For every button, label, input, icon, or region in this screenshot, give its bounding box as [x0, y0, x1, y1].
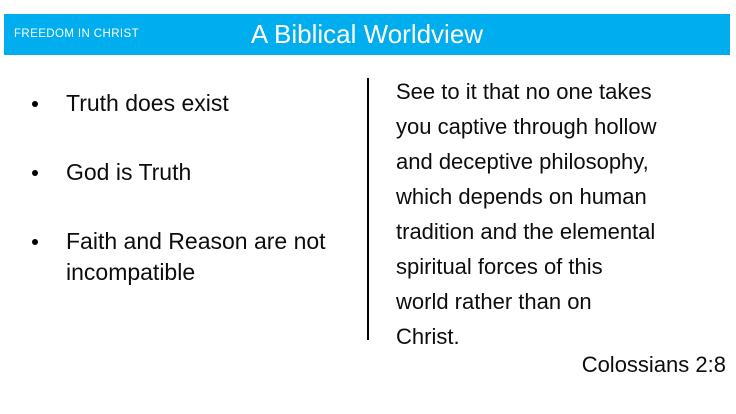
header-banner: FREEDOM IN CHRIST A Biblical Worldview	[4, 14, 730, 55]
slide: FREEDOM IN CHRIST A Biblical Worldview T…	[0, 0, 736, 414]
bullet-dot-icon	[32, 239, 38, 245]
scripture-quote-text: See to it that no one takes you captive …	[396, 74, 732, 354]
list-item: Truth does exist	[24, 88, 354, 119]
bullet-label: God is Truth	[66, 157, 354, 188]
bullet-dot-icon	[32, 101, 38, 107]
list-item: Faith and Reason are not incompatible	[24, 226, 354, 288]
bullet-label: Faith and Reason are not incompatible	[66, 226, 354, 288]
column-divider	[367, 78, 369, 340]
list-item: God is Truth	[24, 157, 354, 188]
bullet-list: Truth does exist God is Truth Faith and …	[24, 88, 354, 288]
scripture-citation: Colossians 2:8	[396, 350, 726, 380]
bullet-dot-icon	[32, 170, 38, 176]
slide-title: A Biblical Worldview	[4, 14, 730, 55]
bullet-label: Truth does exist	[66, 88, 354, 119]
scripture-quote-block: See to it that no one takes you captive …	[396, 74, 732, 354]
